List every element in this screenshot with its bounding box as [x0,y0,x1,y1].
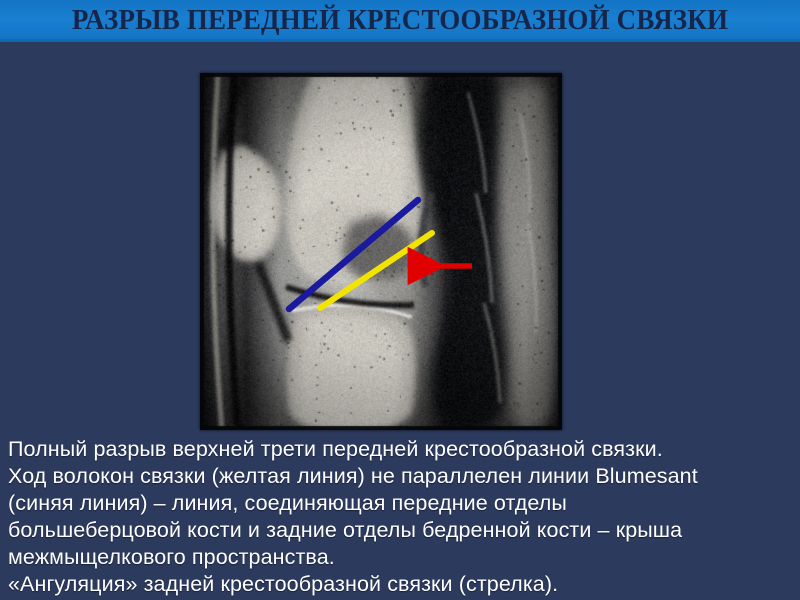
mri-canvas [200,73,562,430]
caption-line: «Ангуляция» задней крестообразной связки… [8,571,798,598]
caption-line: Полный разрыв верхней трети передней кре… [8,436,798,463]
caption-line: (синяя линия) – линия, соединяющая перед… [8,490,798,517]
caption-line: межмыщелкового пространства. [8,544,798,571]
slide-body: Полный разрыв верхней трети передней кре… [0,42,800,600]
caption-line: Ход волокон связки (желтая линия) не пар… [8,463,798,490]
title-banner: РАЗРЫВ ПЕРЕДНЕЙ КРЕСТООБРАЗНОЙ СВЯЗКИ [0,0,800,42]
caption-line: большеберцовой кости и задние отделы бед… [8,517,798,544]
sagittal-knee-mri-image [200,73,562,430]
page-title: РАЗРЫВ ПЕРЕДНЕЙ КРЕСТООБРАЗНОЙ СВЯЗКИ [28,0,772,40]
caption-block: Полный разрыв верхней трети передней кре… [8,436,798,598]
